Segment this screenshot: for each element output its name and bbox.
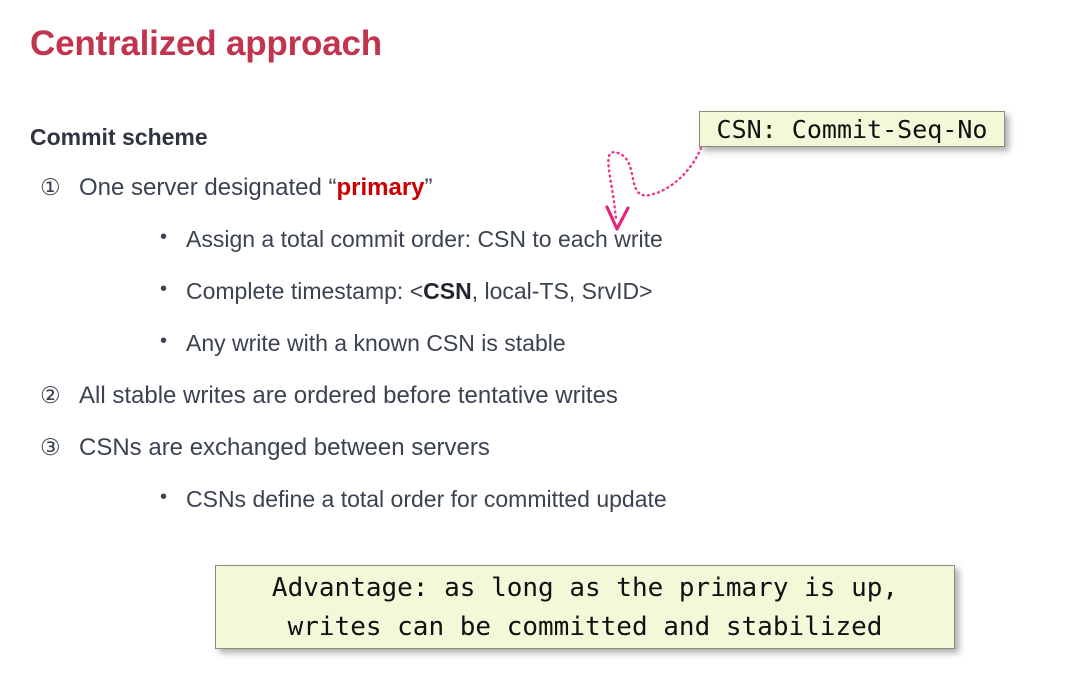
list-number-marker: ①	[40, 176, 61, 199]
text-segment: Any write with a known CSN is stable	[186, 330, 566, 356]
bullet-dot-icon: •	[160, 279, 167, 299]
list-item-text: One server designated “primary”	[79, 176, 433, 200]
list-item: •Any write with a known CSN is stable	[0, 332, 1070, 384]
bullet-dot-icon: •	[160, 227, 167, 247]
list-item: ③CSNs are exchanged between servers	[0, 436, 1070, 488]
slide-canvas: Centralized approach Commit scheme ①One …	[0, 0, 1070, 695]
content-list: ①One server designated “primary”•Assign …	[0, 176, 1070, 540]
list-item: •Assign a total commit order: CSN to eac…	[0, 228, 1070, 280]
text-segment: CSNs are exchanged between servers	[79, 434, 490, 461]
text-segment: CSN	[423, 278, 472, 304]
list-item-text: Assign a total commit order: CSN to each…	[186, 228, 663, 251]
text-segment: primary	[336, 174, 424, 201]
list-item-text: CSNs are exchanged between servers	[79, 436, 490, 460]
callout-csn-text: CSN: Commit-Seq-No	[704, 109, 1000, 150]
list-number-marker: ②	[40, 384, 61, 407]
bullet-dot-icon: •	[160, 487, 167, 507]
callout-advantage-text: Advantage: as long as the primary is up,…	[220, 569, 950, 647]
section-heading: Commit scheme	[30, 124, 208, 151]
list-item-text: Complete timestamp: <CSN, local-TS, SrvI…	[186, 280, 653, 303]
text-segment: All stable writes are ordered before ten…	[79, 382, 618, 409]
page-title: Centralized approach	[30, 24, 382, 64]
text-segment: CSNs define a total order for committed …	[186, 486, 667, 512]
callout-box-advantage: Advantage: as long as the primary is up,…	[215, 565, 955, 649]
list-item-text: CSNs define a total order for committed …	[186, 488, 667, 511]
list-item: •CSNs define a total order for committed…	[0, 488, 1070, 540]
list-item: ①One server designated “primary”	[0, 176, 1070, 228]
text-segment: Assign a total commit order: CSN to each…	[186, 226, 663, 252]
list-item: ②All stable writes are ordered before te…	[0, 384, 1070, 436]
list-item: •Complete timestamp: <CSN, local-TS, Srv…	[0, 280, 1070, 332]
list-item-text: All stable writes are ordered before ten…	[79, 384, 618, 408]
list-item-text: Any write with a known CSN is stable	[186, 332, 566, 355]
text-segment: , local-TS, SrvID>	[472, 278, 653, 304]
text-segment: One server designated “	[79, 174, 336, 201]
callout-box-csn: CSN: Commit-Seq-No	[699, 111, 1005, 147]
list-number-marker: ③	[40, 436, 61, 459]
text-segment: ”	[425, 174, 433, 201]
text-segment: Complete timestamp: <	[186, 278, 423, 304]
bullet-dot-icon: •	[160, 331, 167, 351]
